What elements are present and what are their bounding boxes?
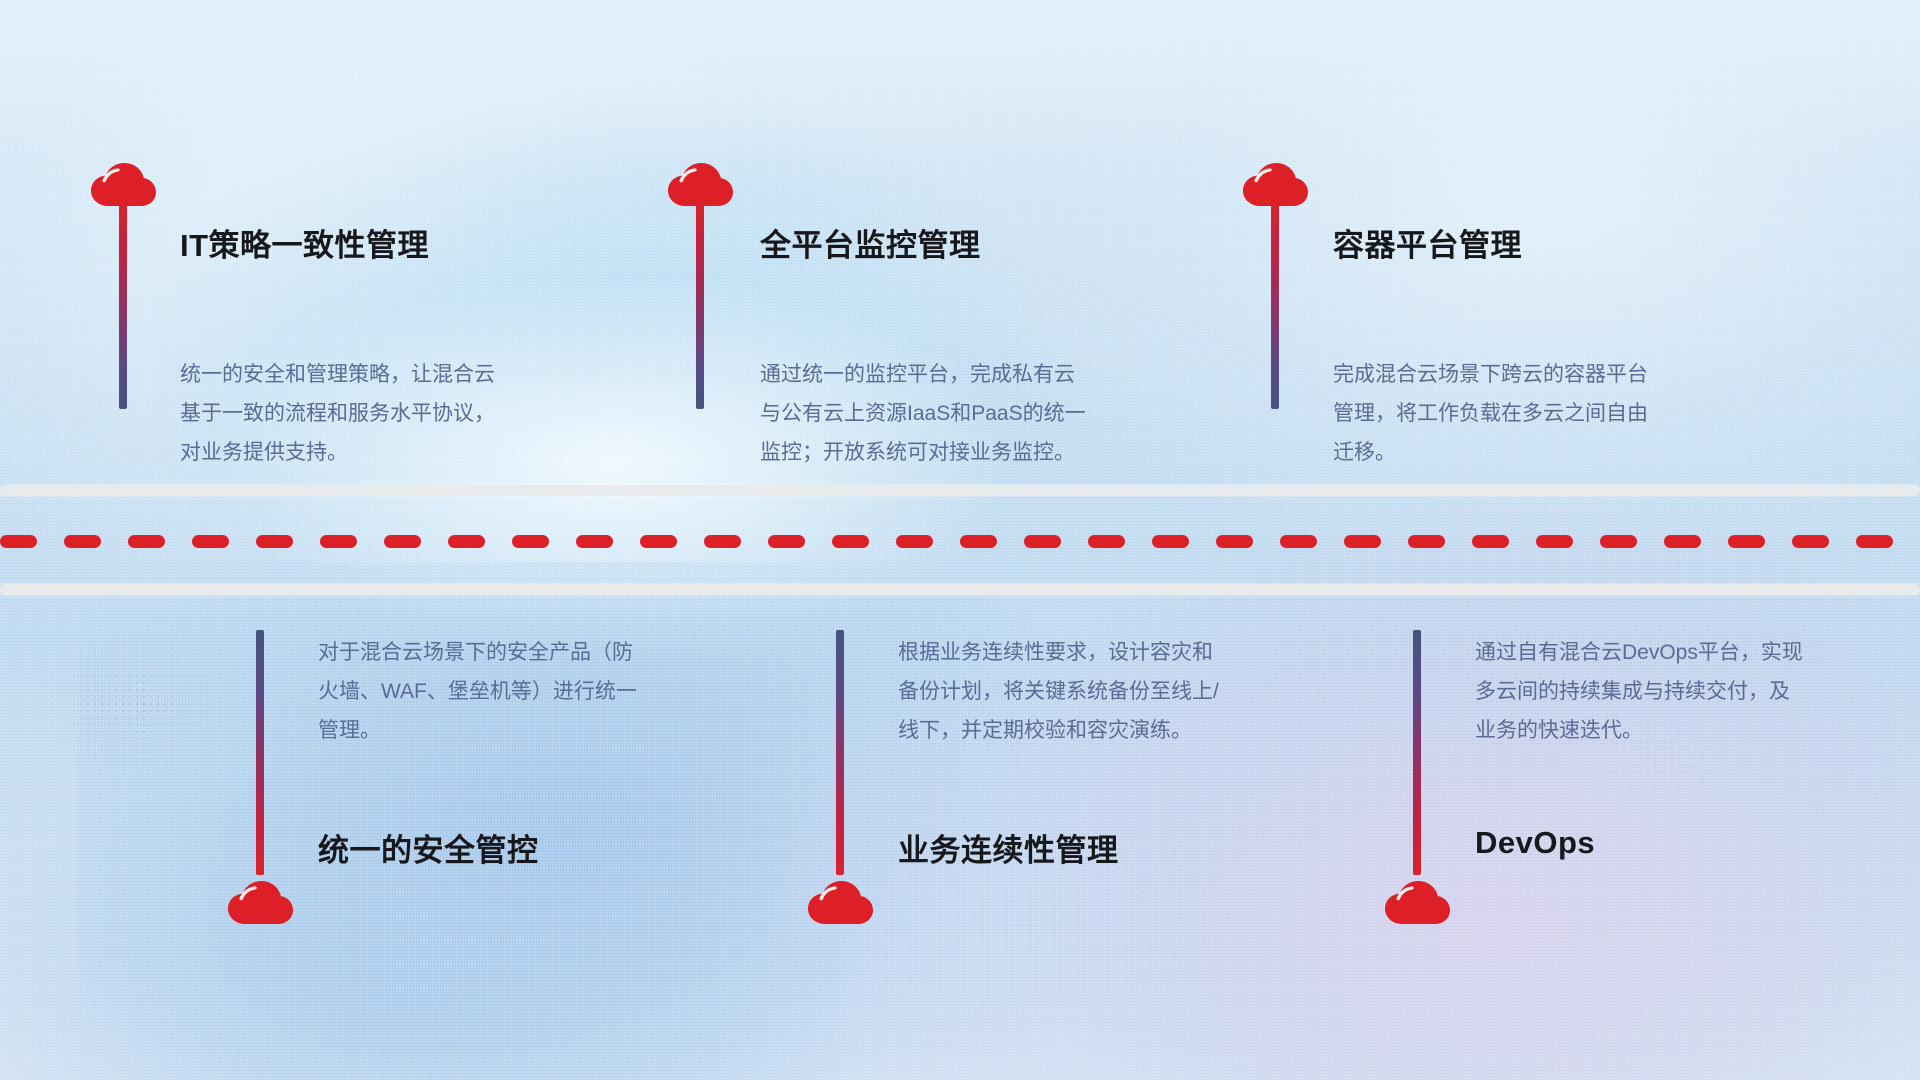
road-dash (1344, 535, 1381, 548)
road-dash (1856, 535, 1893, 548)
bottom-item-title-1: 统一的安全管控 (318, 825, 539, 870)
bottom-item-body-3: 通过自有混合云DevOps平台，实现多云间的持续集成与持续交付，及业务的快速迭代… (1475, 633, 1805, 750)
top-item-title-2: 全平台监控管理 (760, 220, 981, 265)
marker-stem-4 (256, 630, 264, 875)
bottom-item-title-3: DevOps (1475, 825, 1595, 861)
cloud-icon (225, 878, 295, 926)
top-item-body-3: 完成混合云场景下跨云的容器平台管理，将工作负载在多云之间自由迁移。 (1333, 355, 1663, 472)
road-center-dashed-line (0, 535, 1920, 548)
road-dash (448, 535, 485, 548)
road-dash (1600, 535, 1637, 548)
cloud-icon (665, 160, 735, 208)
bottom-item-body-1: 对于混合云场景下的安全产品（防火墙、WAF、堡垒机等）进行统一管理。 (318, 633, 648, 750)
marker-stem-5 (836, 630, 844, 875)
bottom-item-title-2: 业务连续性管理 (898, 825, 1119, 870)
marker-stem-6 (1413, 630, 1421, 875)
road-edge-line-bottom (0, 584, 1920, 595)
bottom-item-body-2: 根据业务连续性要求，设计容灾和备份计划，将关键系统备份至线上/线下，并定期校验和… (898, 633, 1228, 750)
road-dash (256, 535, 293, 548)
cloud-icon (88, 160, 158, 208)
road-dash (1408, 535, 1445, 548)
road-dash (1280, 535, 1317, 548)
cloud-pin-marker-3 (1240, 160, 1312, 208)
road-dash (1472, 535, 1509, 548)
road-dash (64, 535, 101, 548)
road-dash (960, 535, 997, 548)
road-dash (0, 535, 37, 548)
road-divider (0, 485, 1920, 595)
marker-stem-3 (1271, 204, 1279, 409)
road-dash (704, 535, 741, 548)
cloud-pin-marker-1 (88, 160, 160, 208)
road-dash (192, 535, 229, 548)
top-item-body-2: 通过统一的监控平台，完成私有云与公有云上资源IaaS和PaaS的统一监控；开放系… (760, 355, 1090, 472)
top-item-title-3: 容器平台管理 (1333, 220, 1522, 265)
cloud-icon (1240, 160, 1310, 208)
marker-stem-2 (696, 204, 704, 409)
road-dash (640, 535, 677, 548)
road-dash (1664, 535, 1701, 548)
cloud-icon (805, 878, 875, 926)
road-dash (512, 535, 549, 548)
road-dash (1728, 535, 1765, 548)
road-dash (1024, 535, 1061, 548)
road-dash (1536, 535, 1573, 548)
road-dash (1152, 535, 1189, 548)
road-dash (128, 535, 165, 548)
road-dash (896, 535, 933, 548)
road-dash (384, 535, 421, 548)
cloud-icon (1382, 878, 1452, 926)
cloud-pin-marker-2 (665, 160, 737, 208)
marker-stem-1 (119, 204, 127, 409)
road-dash (1216, 535, 1253, 548)
road-dash (1792, 535, 1829, 548)
road-edge-line-top (0, 485, 1920, 496)
top-item-title-1: IT策略一致性管理 (180, 220, 429, 265)
road-dash (576, 535, 613, 548)
road-dash (768, 535, 805, 548)
top-item-body-1: 统一的安全和管理策略，让混合云基于一致的流程和服务水平协议，对业务提供支持。 (180, 355, 510, 472)
road-dash (320, 535, 357, 548)
road-dash (832, 535, 869, 548)
road-dash (1088, 535, 1125, 548)
